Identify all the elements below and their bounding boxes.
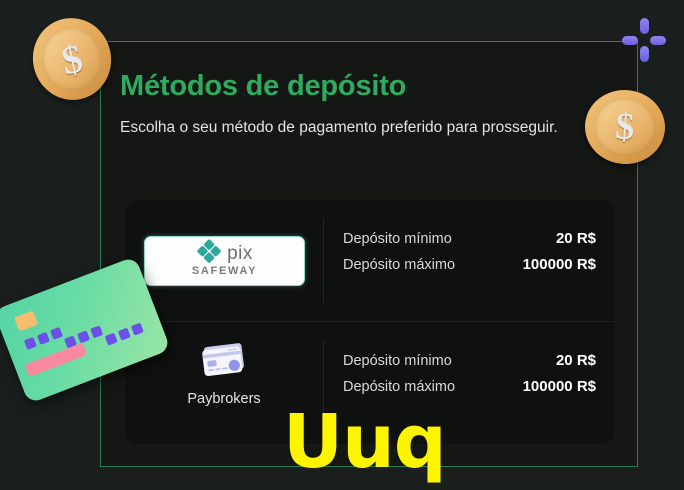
dollar-sign-icon: $: [57, 34, 86, 84]
sparkle-arm-right: [650, 36, 666, 45]
screen-root: Métodos de depósito Escolha o seu método…: [0, 0, 684, 490]
sparkle-arm-up: [640, 18, 649, 34]
min-deposit-label: Depósito mínimo: [343, 227, 452, 252]
max-deposit-line: Depósito máximo 100000 R$: [343, 374, 596, 400]
page-subtitle: Escolha o seu método de pagamento prefer…: [120, 115, 575, 141]
plus-sparkle-icon: [622, 18, 666, 62]
card-number-group: [105, 323, 144, 346]
sparkle-arm-down: [640, 46, 649, 62]
max-deposit-value: 100000 R$: [523, 252, 596, 277]
watermark-text: Uuq: [283, 405, 446, 479]
card-chip: [14, 310, 38, 331]
max-deposit-value: 100000 R$: [523, 374, 596, 399]
pix-logo-tile[interactable]: pix SAFEWAY: [144, 236, 305, 286]
pix-logo: pix: [145, 241, 304, 265]
min-deposit-line: Depósito mínimo 20 R$: [343, 226, 596, 252]
dollar-sign-icon: $: [614, 104, 636, 149]
pix-diamond-icon: [196, 239, 222, 268]
method-logo-cell: pix SAFEWAY: [125, 200, 323, 321]
method-row-pix-safeway[interactable]: pix SAFEWAY Depósito mínimo 20 R$ Depósi…: [125, 200, 614, 321]
min-deposit-value: 20 R$: [556, 348, 596, 373]
max-deposit-label: Depósito máximo: [343, 253, 455, 278]
pix-wordmark: pix: [227, 244, 253, 263]
method-limits: Depósito mínimo 20 R$ Depósito máximo 10…: [343, 348, 596, 400]
card-number-group: [24, 327, 63, 350]
min-deposit-line: Depósito mínimo 20 R$: [343, 348, 596, 374]
method-divider: [323, 218, 324, 303]
method-limits: Depósito mínimo 20 R$ Depósito máximo 10…: [343, 226, 596, 278]
max-deposit-line: Depósito máximo 100000 R$: [343, 252, 596, 278]
min-deposit-label: Depósito mínimo: [343, 349, 452, 374]
page-title: Métodos de depósito: [120, 70, 406, 103]
min-deposit-value: 20 R$: [556, 226, 596, 251]
safeway-wordmark: SAFEWAY: [145, 265, 304, 277]
sparkle-arm-left: [622, 36, 638, 45]
credit-card-icon: [199, 367, 249, 384]
card-stripe: [25, 343, 88, 377]
max-deposit-label: Depósito máximo: [343, 375, 455, 400]
